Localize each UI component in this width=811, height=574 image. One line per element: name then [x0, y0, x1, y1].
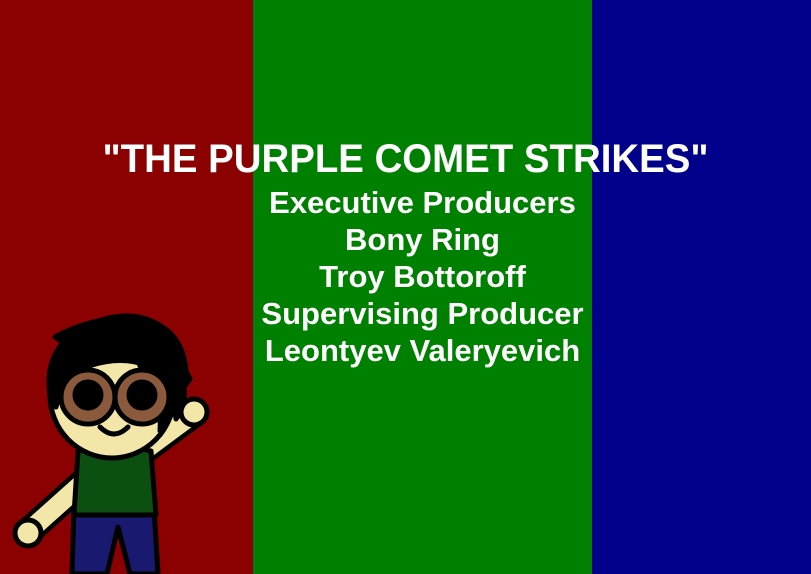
credit-line-leontyev-valeryevich: Leontyev Valeryevich: [253, 332, 592, 369]
background-band-blue: [592, 0, 811, 574]
background-band-red: [0, 0, 253, 574]
credit-line-troy-bottoroff: Troy Bottoroff: [253, 258, 592, 295]
credit-line-bony-ring: Bony Ring: [253, 221, 592, 258]
title-card-canvas: "THE PURPLE COMET STRIKES" Executive Pro…: [0, 0, 811, 574]
page-title: "THE PURPLE COMET STRIKES": [16, 136, 795, 182]
credits-block: Executive Producers Bony Ring Troy Botto…: [253, 184, 592, 369]
credit-line-supervising-producer: Supervising Producer: [253, 295, 592, 332]
credit-line-executive-producers: Executive Producers: [253, 184, 592, 221]
